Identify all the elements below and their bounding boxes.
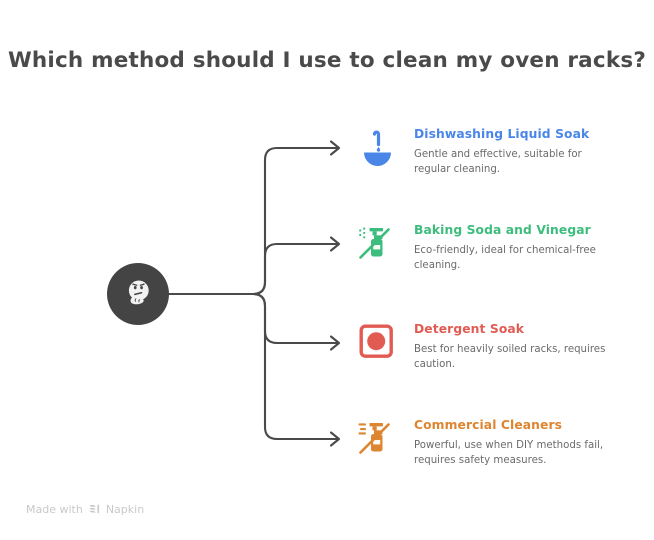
branch-description: Gentle and effective, suitable for regul… [414,148,609,177]
connector-branch-4 [253,294,338,439]
branch-title: Dishwashing Liquid Soak [414,127,636,141]
connector-branch-1 [253,148,338,294]
arrowhead-4 [331,433,339,446]
branch-item-dishwashing-liquid-soak[interactable]: Dishwashing Liquid Soak Gentle and effec… [356,127,636,177]
branch-title: Commercial Cleaners [414,418,636,432]
branch-title: Detergent Soak [414,322,636,336]
branch-item-commercial-cleaners[interactable]: Commercial Cleaners Powerful, use when D… [356,418,636,468]
arrowhead-2 [331,238,339,251]
branch-text-block: Detergent Soak Best for heavily soiled r… [414,322,636,372]
branch-item-baking-soda-and-vinegar[interactable]: Baking Soda and Vinegar Eco-friendly, id… [356,223,636,273]
diagram-canvas: Which method should I use to clean my ov… [0,0,654,540]
footer-attribution[interactable]: Made with Napkin [26,503,144,516]
arrowhead-1 [331,142,339,155]
branch-description: Best for heavily soiled racks, requires … [414,343,609,372]
arrowhead-3 [331,337,339,350]
spray-bottle-icon [356,418,398,460]
branch-item-detergent-soak[interactable]: Detergent Soak Best for heavily soiled r… [356,322,636,372]
sink-faucet-icon [356,127,398,169]
detergent-square-icon [356,322,398,364]
spray-bottle-icon [356,223,398,265]
branch-description: Eco-friendly, ideal for chemical-free cl… [414,244,609,273]
branch-text-block: Commercial Cleaners Powerful, use when D… [414,418,636,468]
connector-branch-3 [253,294,338,343]
footer-brand-label: Napkin [106,503,144,516]
footer-made-with-label: Made with [26,503,83,516]
page-title: Which method should I use to clean my ov… [0,48,654,73]
branch-text-block: Baking Soda and Vinegar Eco-friendly, id… [414,223,636,273]
branch-description: Powerful, use when DIY methods fail, req… [414,439,609,468]
center-node[interactable] [107,263,169,325]
thinking-face-icon [119,275,157,313]
napkin-chevrons-logo [88,503,101,516]
connector-branch-2 [253,244,338,294]
branch-text-block: Dishwashing Liquid Soak Gentle and effec… [414,127,636,177]
branch-title: Baking Soda and Vinegar [414,223,636,237]
